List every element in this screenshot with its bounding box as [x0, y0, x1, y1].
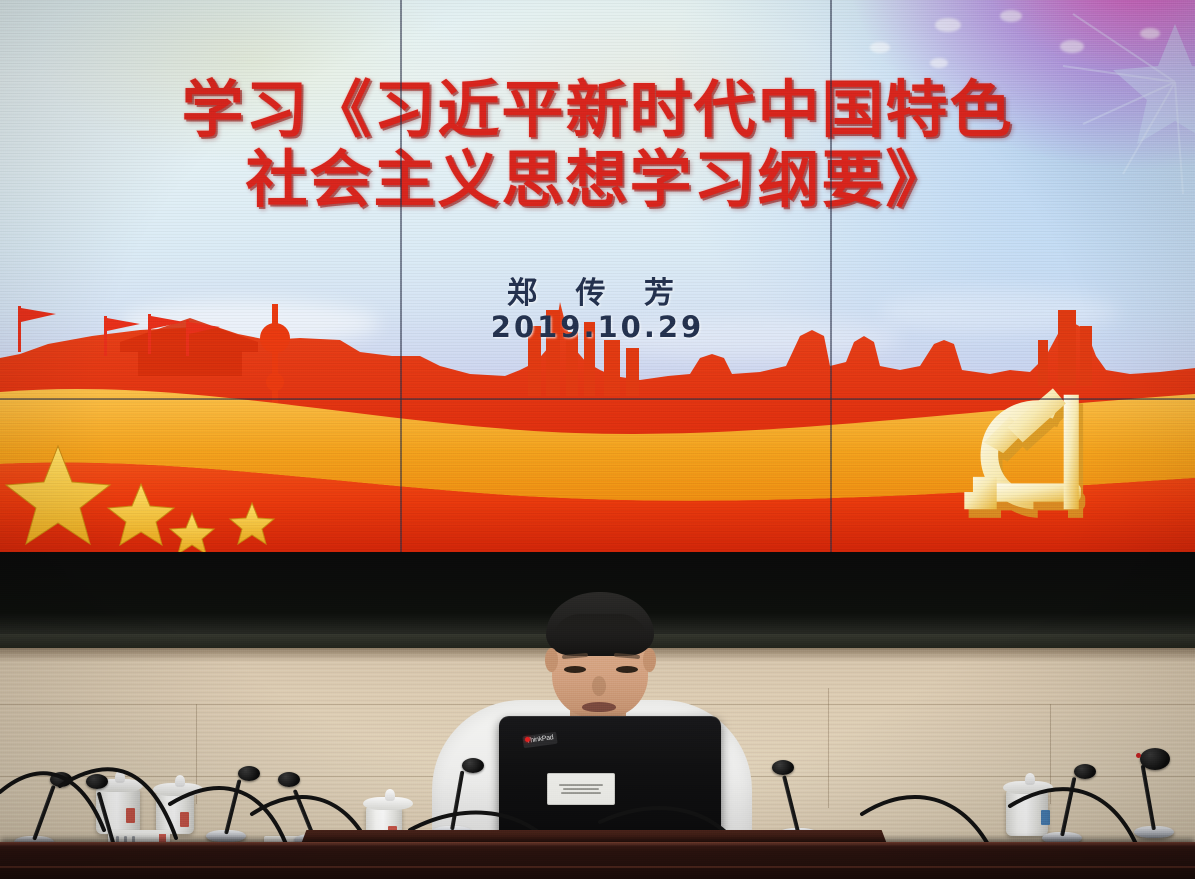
table-top-edge — [0, 842, 1195, 846]
videowall-seam-horizontal-1 — [0, 398, 1195, 400]
presenter-ear-right — [643, 648, 656, 672]
thinkpad-indicator-icon — [525, 737, 530, 742]
presenter-eye-right — [616, 666, 638, 673]
slide-title-line-1: 学习《习近平新时代中国特色 — [0, 78, 1195, 142]
slide-text-layer: 学习《习近平新时代中国特色 社会主义思想学习纲要》 郑 传 芳 2019.10.… — [0, 0, 1195, 556]
led-video-wall: 学习《习近平新时代中国特色 社会主义思想学习纲要》 郑 传 芳 2019.10.… — [0, 0, 1195, 556]
slide-title-line-2: 社会主义思想学习纲要》 — [0, 148, 1195, 212]
presenter-nose — [592, 676, 606, 696]
speaker-table — [0, 842, 1195, 879]
slide-date: 2019.10.29 — [0, 310, 1195, 344]
slide-speaker-name: 郑 传 芳 — [0, 268, 1195, 312]
videowall-seam-vertical-1 — [400, 0, 402, 556]
table-bevel — [0, 866, 1195, 868]
videowall-seam-vertical-2 — [830, 0, 832, 556]
screenshot-root: 学习《习近平新时代中国特色 社会主义思想学习纲要》 郑 传 芳 2019.10.… — [0, 0, 1195, 879]
presenter-ear-left — [545, 648, 558, 672]
presenter-eye-left — [564, 666, 586, 673]
presenter-mouth — [582, 702, 616, 712]
